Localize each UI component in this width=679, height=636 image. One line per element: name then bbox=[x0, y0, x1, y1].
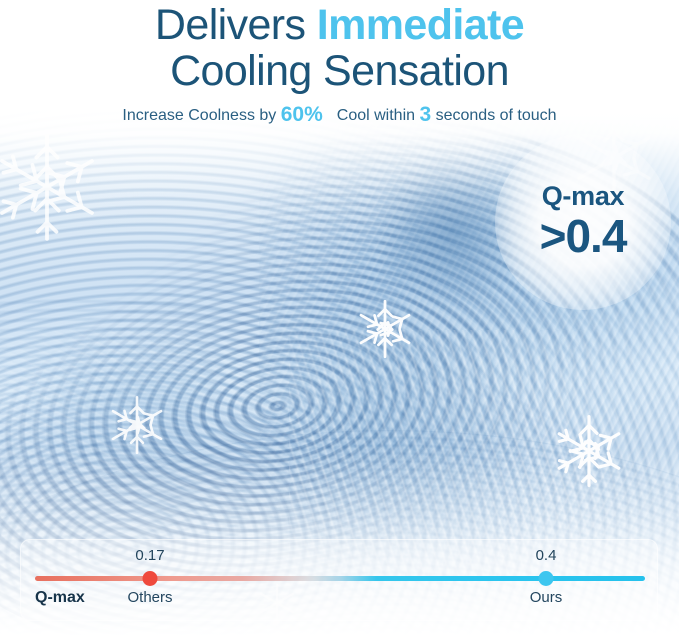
page-title-line-1: Delivers Immediate bbox=[0, 2, 679, 48]
qmax-axis-label: Q-max bbox=[35, 589, 85, 607]
qmax-badge-value: >0.4 bbox=[540, 212, 627, 260]
qmax-badge: Q-max >0.4 bbox=[497, 158, 669, 286]
qmax-label-others: Others bbox=[127, 589, 172, 606]
subtitle-seconds-value: 3 bbox=[419, 103, 431, 126]
qmax-label-ours: Ours bbox=[530, 589, 563, 606]
subtitle-coolness-pre: Increase Coolness by bbox=[122, 107, 280, 124]
subtitle-seconds-post: seconds of touch bbox=[431, 107, 556, 124]
qmax-marker-others bbox=[143, 571, 158, 586]
page-title-highlight: Immediate bbox=[317, 1, 524, 49]
subtitle-seconds-pre: Cool within bbox=[337, 107, 420, 124]
subtitle-coolness-value: 60% bbox=[281, 103, 323, 126]
qmax-value-others: 0.17 bbox=[135, 547, 164, 564]
cooling-feature-poster: Q-max >0.4 Delivers Immediate Cooling Se… bbox=[0, 0, 679, 636]
page-title-plain: Delivers bbox=[155, 1, 317, 49]
qmax-scale-track bbox=[35, 576, 645, 581]
qmax-comparison-chart: 0.17 Others 0.4 Ours Q-max bbox=[20, 539, 658, 621]
subtitle: Increase Coolness by 60%Cool within 3 se… bbox=[0, 103, 679, 127]
qmax-value-ours: 0.4 bbox=[536, 547, 557, 564]
header: Delivers Immediate Cooling Sensation Inc… bbox=[0, 0, 679, 127]
page-title-line-2: Cooling Sensation bbox=[0, 48, 679, 94]
qmax-marker-ours bbox=[539, 571, 554, 586]
qmax-badge-label: Q-max bbox=[542, 183, 625, 210]
